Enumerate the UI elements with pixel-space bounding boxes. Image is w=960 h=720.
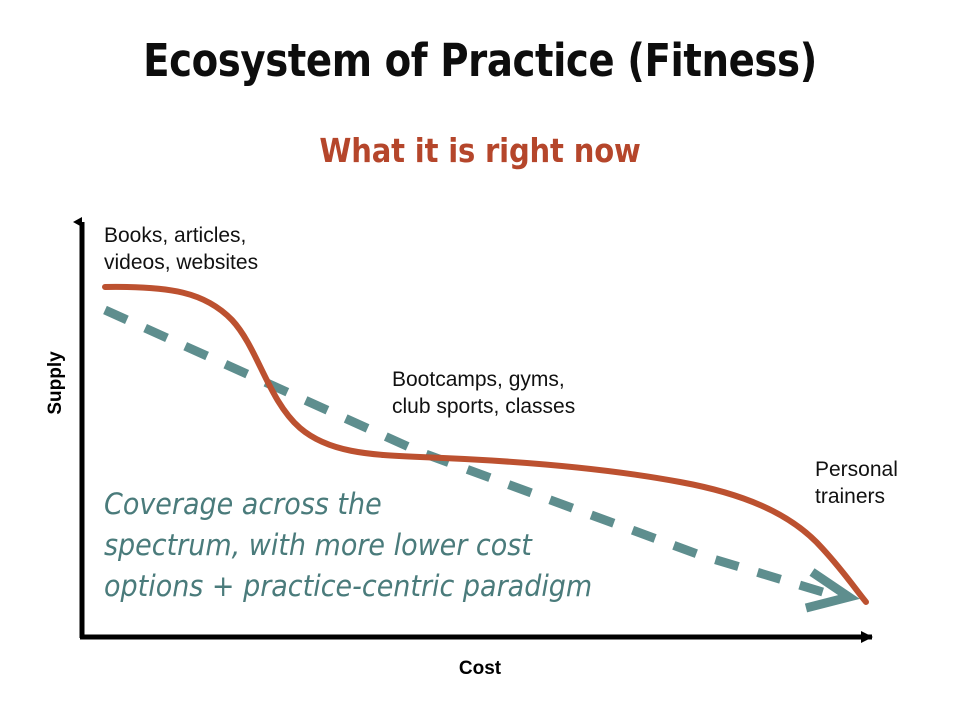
x-axis-label: Cost [380, 658, 580, 680]
annotation-books-articles: Books, articles, videos, websites [104, 222, 258, 277]
annotation-bootcamps-gyms: Bootcamps, gyms, club sports, classes [392, 366, 575, 421]
annotation-insight: Coverage across the spectrum, with more … [104, 484, 681, 608]
chart-plot [0, 0, 960, 720]
y-axis-label: Supply [45, 323, 67, 443]
slide-canvas: Ecosystem of Practice (Fitness) What it … [0, 0, 960, 720]
annotation-personal-trainers: Personal trainers [815, 456, 898, 511]
